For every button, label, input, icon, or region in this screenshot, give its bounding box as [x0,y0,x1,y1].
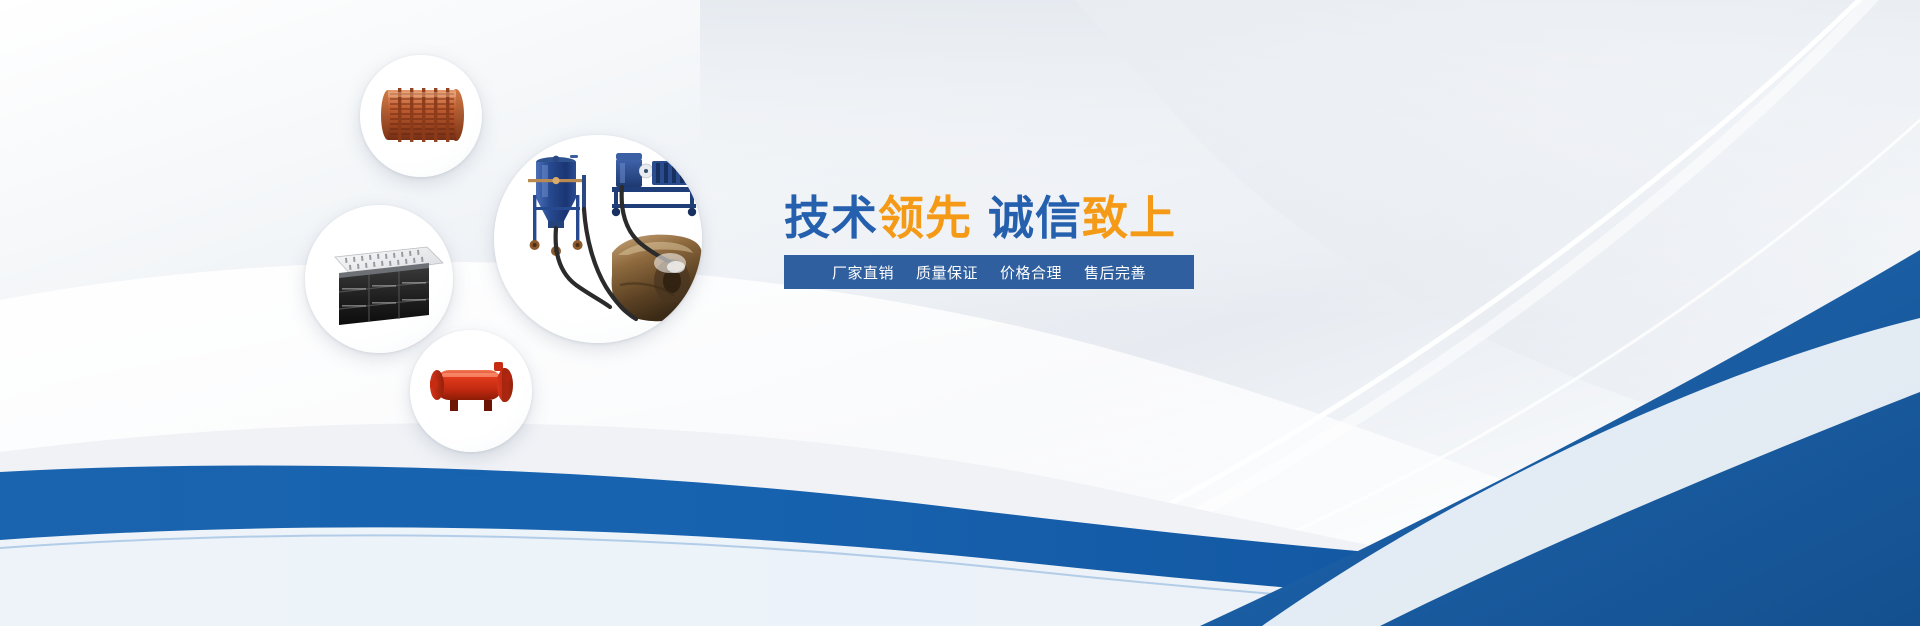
background-base-fill [0,0,1920,626]
pressure-pump-unit-icon [612,153,696,216]
product-circle-red-vessel[interactable] [410,330,532,452]
hose-left [556,228,610,307]
swoosh-white-lower [0,262,1920,626]
corner-wedge-notch [1262,318,1920,626]
benefit-item-4: 售后完善 [1073,262,1157,283]
ribbon-under-white [0,527,1920,626]
swoosh-highlight-arc [640,0,1900,626]
headline: 技术领先诚信致上 [784,190,1214,246]
background-decoration [0,0,1920,626]
subtitle-benefit-bar: 厂家直销 质量保证 价格合理 售后完善 [784,255,1194,289]
benefit-item-1: 厂家直销 [821,262,905,283]
product-circle-cleaning-rig[interactable] [494,135,702,343]
headline-segment-1: 技术 [784,192,878,244]
red-pressure-vessel-icon [410,330,532,452]
product-circle-tube-bundle[interactable] [360,55,482,177]
headline-segment-4: 致上 [1082,192,1176,244]
benefit-item-3: 价格合理 [989,262,1073,283]
hero-banner: 技术领先诚信致上 厂家直销 质量保证 价格合理 售后完善 [0,0,1920,626]
copper-tube-bundle-icon [360,55,482,177]
swoosh-grey-lower [0,423,1920,626]
high-pressure-cleaning-rig-icon [494,135,702,343]
swoosh-highlight-arc-soft [620,0,1880,626]
ribbon-edge-line [0,535,1920,626]
background-swoosh-svg [0,0,1920,626]
benefit-item-2: 质量保证 [905,262,989,283]
blue-sweeping-ribbon [0,465,1920,626]
headline-segment-3: 诚信 [988,192,1082,244]
headline-segment-2: 领先 [878,192,972,244]
blue-corner-wedge [1200,250,1920,626]
